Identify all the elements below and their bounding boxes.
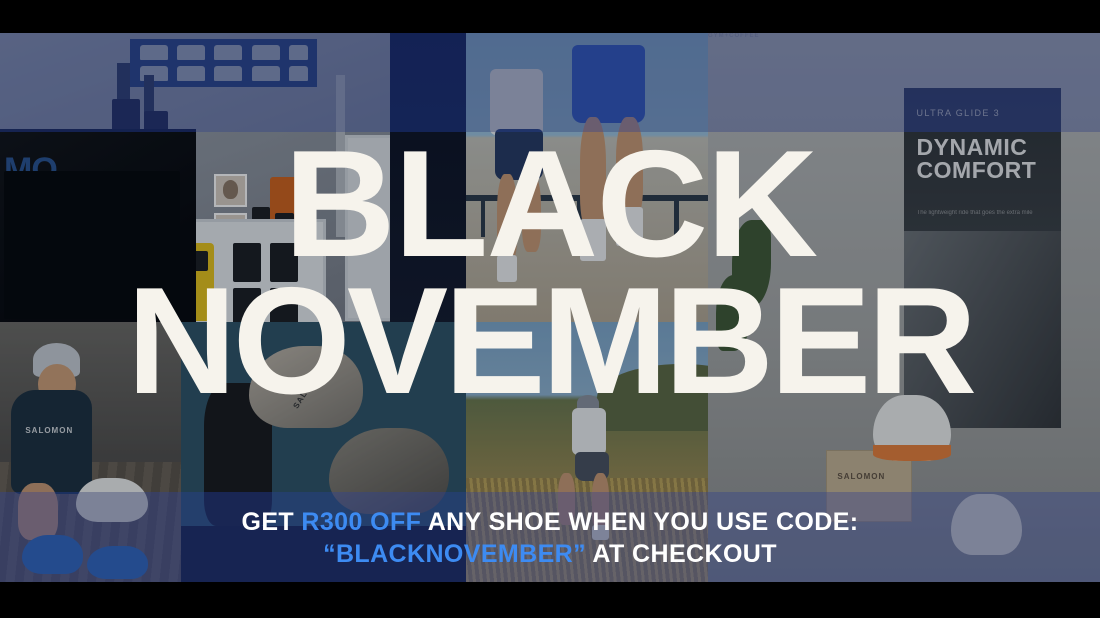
grass-field <box>466 478 708 582</box>
shoe-cell <box>140 45 168 60</box>
expo-banner-title-line1: DYNAMIC <box>917 134 1028 160</box>
letterbox-bar-top <box>0 0 1100 33</box>
collage-tile-shoe-tying: SALOMON <box>0 322 181 582</box>
trail-runner-leg <box>558 473 575 525</box>
expo-banner-subtext: The lightweight ride that goes the extra… <box>917 210 1033 216</box>
shoe-cell <box>289 45 308 60</box>
trail-runner-leg <box>592 473 609 530</box>
expo-rollup-banner: ULTRA GLIDE 3 DYNAMIC COMFORT The lightw… <box>904 88 1061 428</box>
grey-running-shoe <box>329 428 449 514</box>
runner-a-sock <box>497 255 516 282</box>
background-collage: MO ULTRA GLIDE 3 DYNAMIC <box>0 33 1100 582</box>
hoodie-brand: SALOMON <box>25 426 73 435</box>
railing-post <box>674 195 679 237</box>
runner-b-sock <box>580 219 607 261</box>
blue-running-shoe <box>87 546 149 580</box>
collage-tile-slate-shoes: SALOMON <box>181 322 466 526</box>
black-november-promo-banner: MO ULTRA GLIDE 3 DYNAMIC <box>0 0 1100 618</box>
blue-running-shoe <box>22 535 84 574</box>
monitor-screen <box>4 171 180 319</box>
shoe-cell <box>252 66 280 81</box>
white-running-shoe <box>951 494 1022 554</box>
collage-tile-trail-runner <box>466 322 708 582</box>
shoe-sole <box>873 445 951 461</box>
product-box <box>233 243 261 282</box>
shoe-box-brand: SALOMON <box>837 472 885 481</box>
poster-face <box>214 174 247 207</box>
runner-a-leg <box>497 174 516 264</box>
expo-banner-title: DYNAMIC COMFORT <box>917 136 1037 183</box>
expo-banner-kicker: ULTRA GLIDE 3 <box>917 108 1001 118</box>
collage-tile-dark-strip <box>390 33 476 333</box>
runner-b-shorts <box>572 45 645 123</box>
hillside <box>597 364 708 432</box>
tying-man-leg <box>18 483 58 540</box>
expo-banner-title-line2: COMFORT <box>917 157 1037 183</box>
product-box <box>270 243 298 282</box>
man-shirt-brand: GYM+COFFEE <box>708 33 760 39</box>
runner-a-leg <box>522 174 541 252</box>
shoe-cell <box>177 45 205 60</box>
white-running-shoe <box>76 478 148 522</box>
runner-b-sock <box>616 207 643 246</box>
shoe-cell <box>252 45 280 60</box>
shoe-cell <box>289 66 308 81</box>
plant <box>716 275 751 352</box>
runner-b-leg <box>580 117 607 231</box>
runner-a-top <box>490 69 543 135</box>
runner-b-leg <box>616 117 643 219</box>
letterbox-bar-bottom <box>0 582 1100 618</box>
salomon-hoodie <box>11 390 92 494</box>
ladder-rail <box>336 75 345 237</box>
shoe-cell <box>214 66 242 81</box>
runner-a-shorts <box>495 129 543 180</box>
collage-tile-expo-couple: ULTRA GLIDE 3 DYNAMIC COMFORT The lightw… <box>708 33 1100 582</box>
shoe-cell <box>214 45 242 60</box>
trail-runner-top <box>572 408 606 455</box>
trail-runner-sock <box>592 525 609 541</box>
shoe-cell <box>177 66 205 81</box>
railing-post <box>481 195 486 237</box>
collage-tile-runners <box>466 33 708 333</box>
